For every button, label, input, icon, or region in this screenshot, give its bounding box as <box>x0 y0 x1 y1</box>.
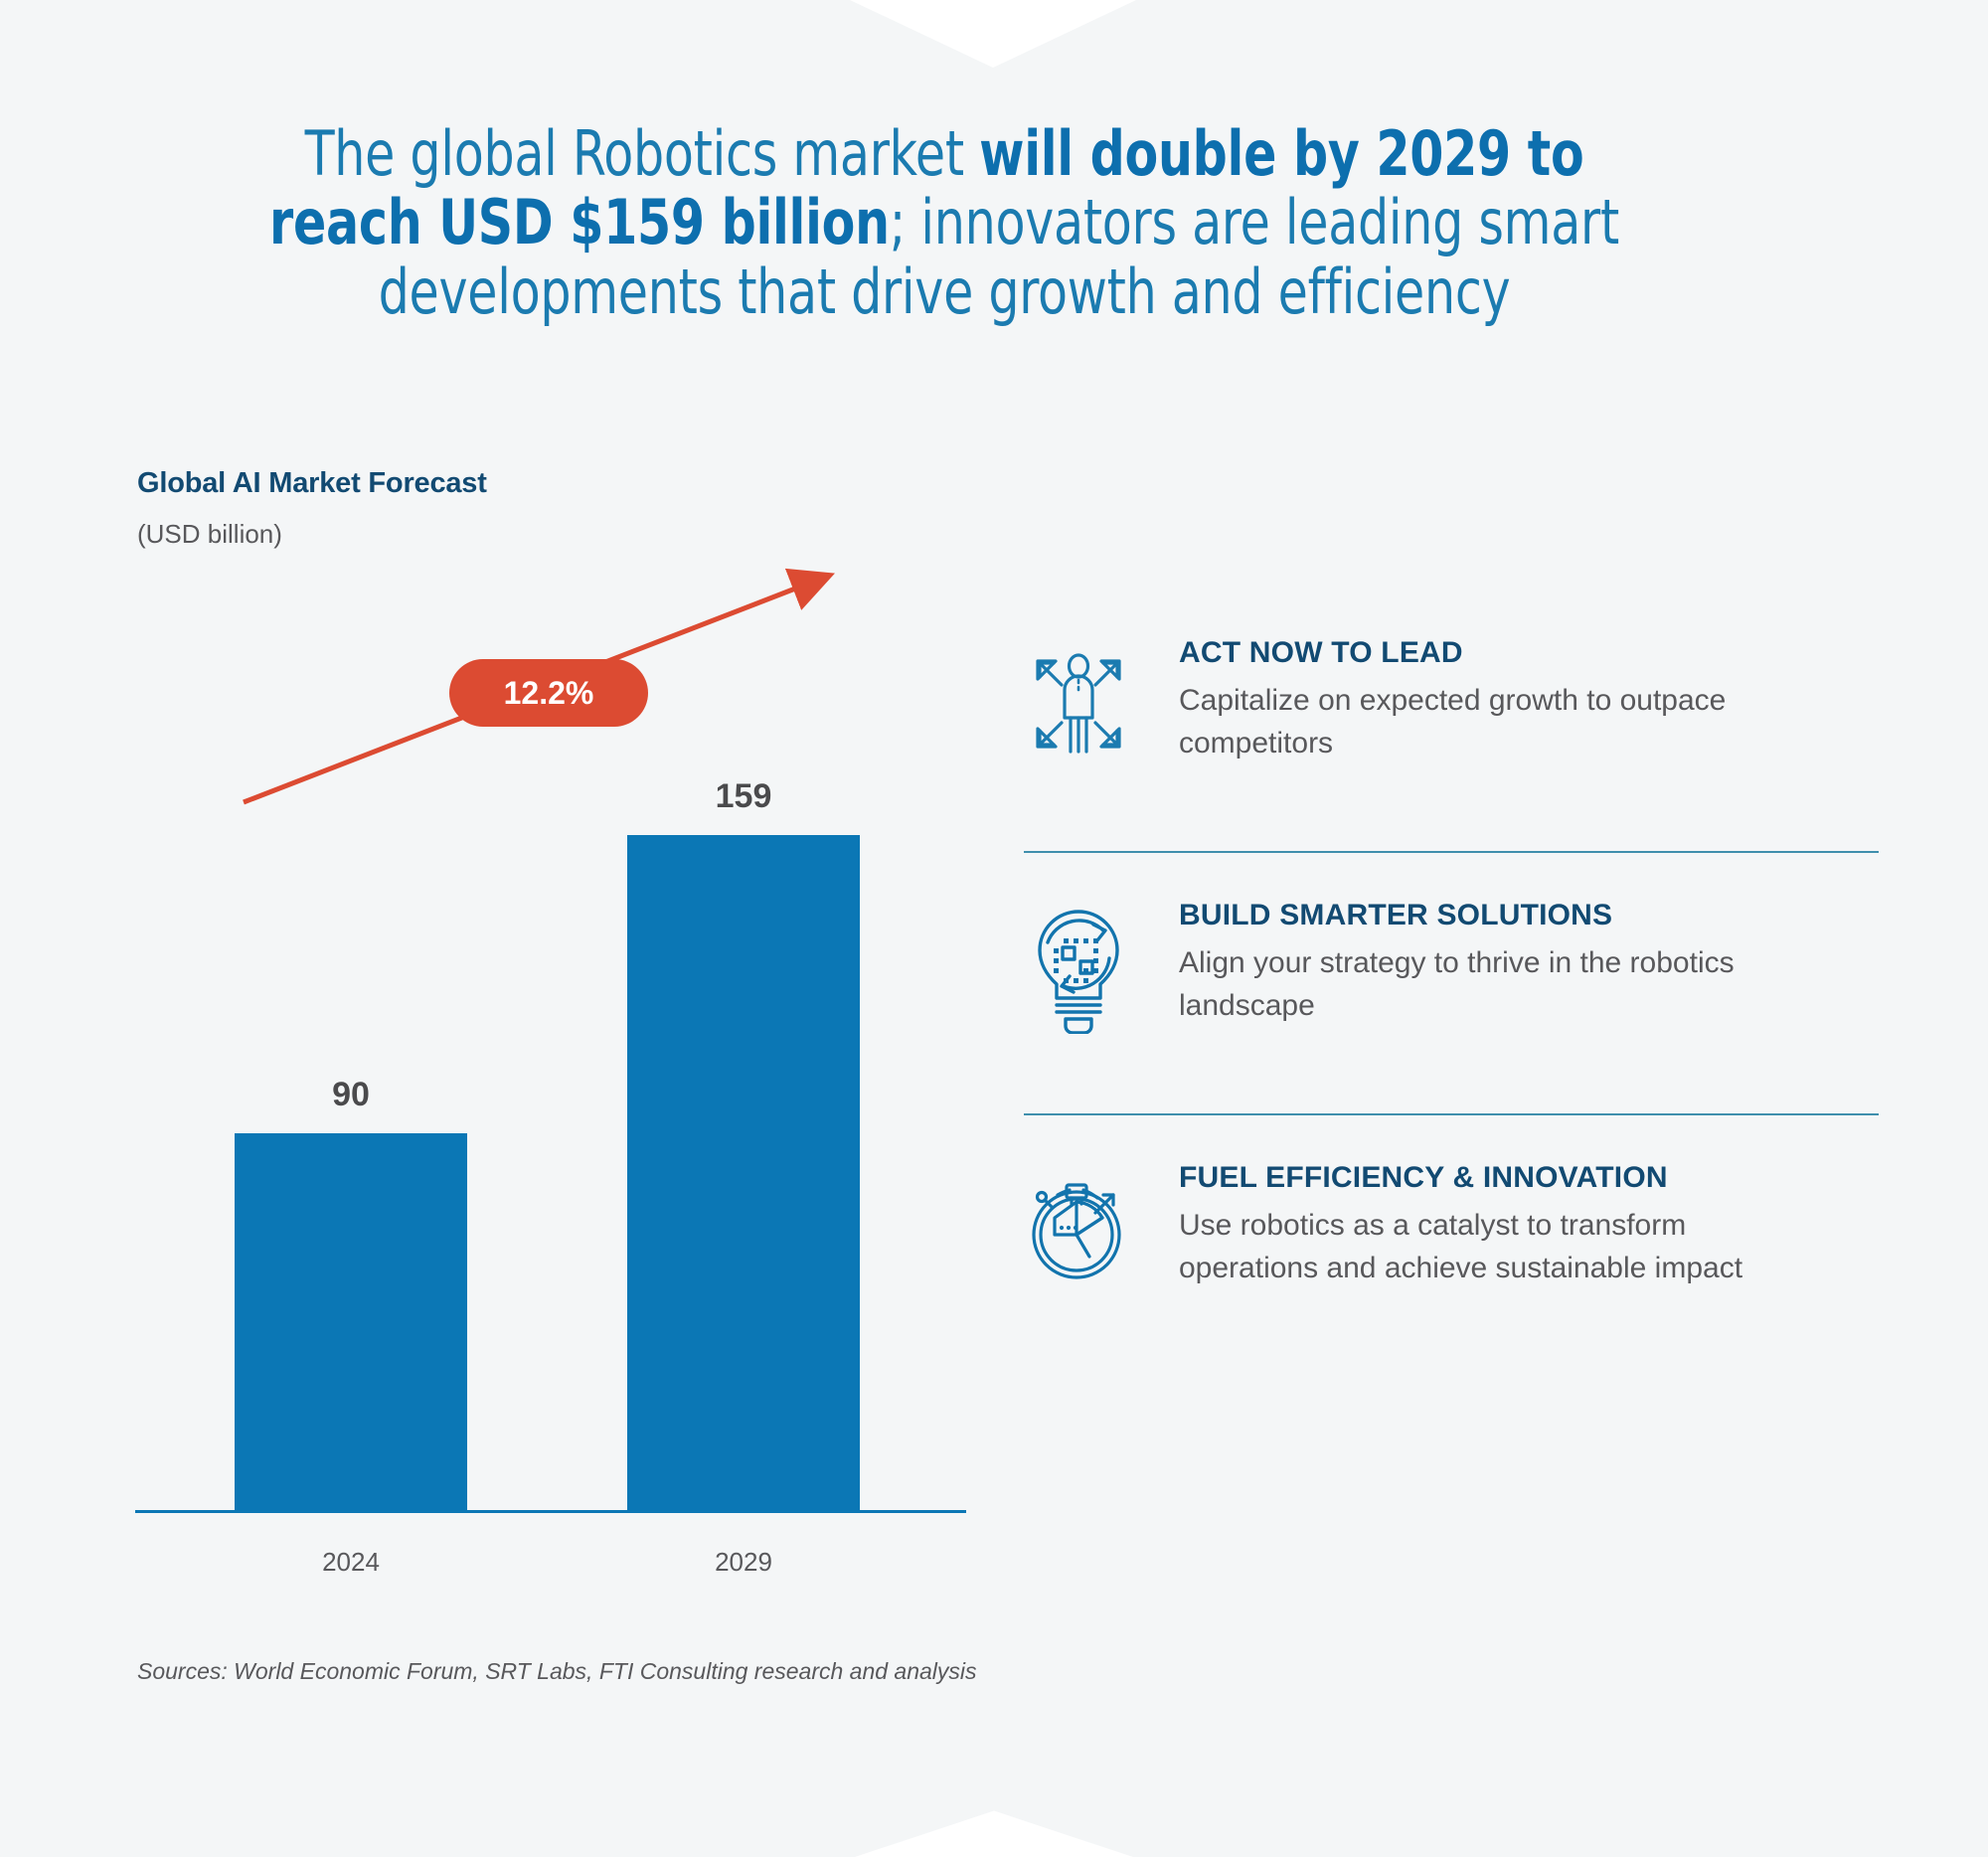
insight-body: Capitalize on expected growth to outpace… <box>1179 680 1775 764</box>
insight-heading: BUILD SMARTER SOLUTIONS <box>1179 899 1899 932</box>
insight-text: BUILD SMARTER SOLUTIONS Align your strat… <box>1179 899 1899 1027</box>
insight-item-fuel-efficiency: FUEL EFFICIENCY & INNOVATION Use robotic… <box>1024 1161 1899 1295</box>
panel-divider-2 <box>1024 1113 1879 1115</box>
insight-item-build-smarter: BUILD SMARTER SOLUTIONS Align your strat… <box>1024 899 1899 1068</box>
insight-body: Use robotics as a catalyst to transform … <box>1179 1205 1775 1289</box>
insight-heading: FUEL EFFICIENCY & INNOVATION <box>1179 1161 1899 1195</box>
insight-item-act-now: ACT NOW TO LEAD Capitalize on expected g… <box>1024 636 1899 805</box>
person-expand-arrows-icon <box>1024 636 1133 763</box>
insight-text: ACT NOW TO LEAD Capitalize on expected g… <box>1179 636 1899 764</box>
insight-body: Align your strategy to thrive in the rob… <box>1179 942 1775 1027</box>
stopwatch-chart-arrow-icon <box>1024 1161 1133 1295</box>
bar-chart: Global AI Market Forecast (USD billion) … <box>0 0 994 1857</box>
infographic-page: The global Robotics market will double b… <box>0 0 1988 1857</box>
trend-arrow-icon <box>0 0 994 1857</box>
lightbulb-circuit-icon <box>1024 899 1133 1039</box>
panel-divider-1 <box>1024 851 1879 853</box>
insights-panel: ACT NOW TO LEAD Capitalize on expected g… <box>1024 636 1899 1295</box>
insight-text: FUEL EFFICIENCY & INNOVATION Use robotic… <box>1179 1161 1899 1289</box>
cagr-badge: 12.2% <box>449 659 648 727</box>
insight-heading: ACT NOW TO LEAD <box>1179 636 1899 670</box>
